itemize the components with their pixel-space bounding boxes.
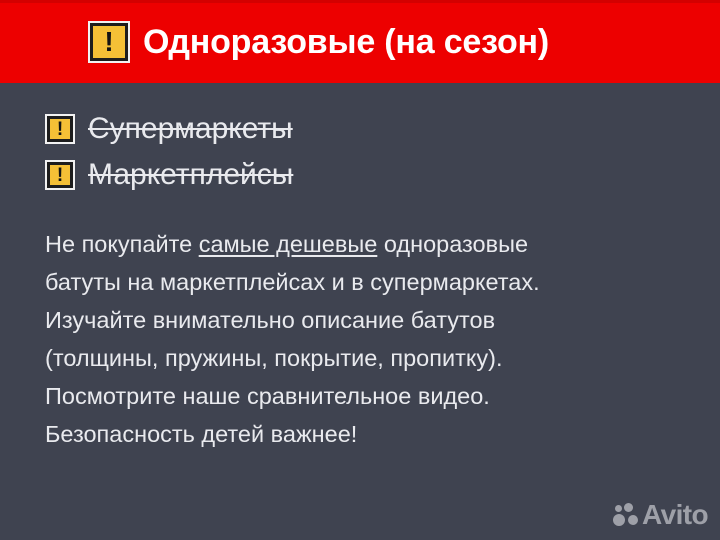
paragraph-text: Не покупайте [45,231,199,257]
paragraph-line: Безопасность детей важнее! [45,415,695,453]
avito-wordmark: Avito [642,501,708,529]
warning-exclamation-icon: ! [90,23,128,61]
slide-canvas: ! Одноразовые (на сезон) ! Супермаркеты … [0,0,720,540]
paragraph-text: одноразовые [377,231,528,257]
paragraph-text: батуты на маркетплейсах и в супермаркета… [45,269,540,295]
header-banner: ! Одноразовые (на сезон) [0,0,720,83]
bullet-icon-glyph: ! [50,165,70,185]
list-item: ! Супермаркеты [47,106,667,152]
body-paragraph: Не покупайте самые дешевые одноразовые б… [45,225,695,453]
list-item-label: Маркетплейсы [88,160,293,190]
paragraph-line: Изучайте внимательно описание батутов [45,301,695,339]
emphasised-phrase: самые дешевые [199,231,378,257]
page-title: Одноразовые (на сезон) [143,25,549,59]
list-item-label: Супермаркеты [88,114,293,144]
paragraph-line: батуты на маркетплейсах и в супермаркета… [45,263,695,301]
bullet-icon-glyph: ! [50,119,70,139]
bullet-list: ! Супермаркеты ! Маркетплейсы [47,106,667,198]
warning-exclamation-icon: ! [47,162,73,188]
avito-dots-logo-icon [613,503,639,527]
paragraph-line: (толщины, пружины, покрытие, пропитку). [45,339,695,377]
paragraph-text: (толщины, пружины, покрытие, пропитку). [45,345,502,371]
warning-exclamation-icon: ! [47,116,73,142]
paragraph-text: Безопасность детей важнее! [45,421,357,447]
paragraph-text: Изучайте внимательно описание батутов [45,307,495,333]
paragraph-line: Посмотрите наше сравнительное видео. [45,377,695,415]
paragraph-text: Посмотрите наше сравнительное видео. [45,383,490,409]
avito-watermark: Avito [613,501,708,529]
list-item: ! Маркетплейсы [47,152,667,198]
paragraph-line: Не покупайте самые дешевые одноразовые [45,225,695,263]
header-icon-glyph: ! [93,26,125,58]
